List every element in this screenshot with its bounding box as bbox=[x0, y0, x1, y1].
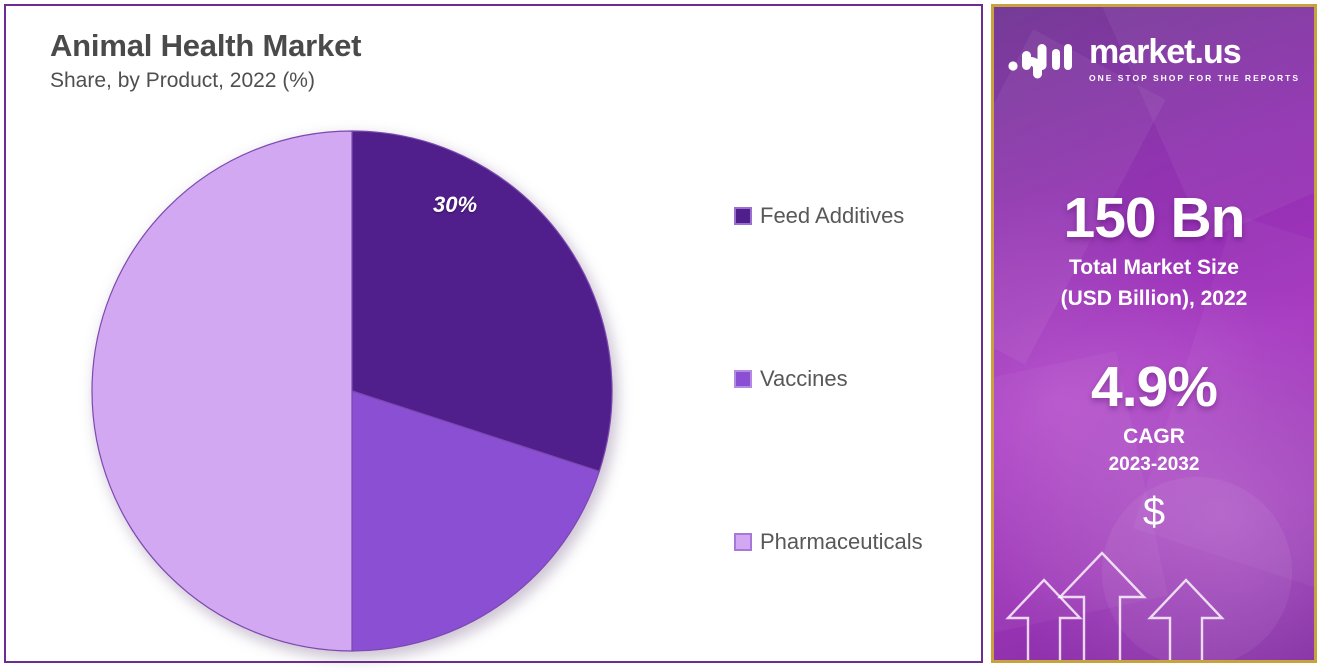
pie-slice[interactable] bbox=[92, 131, 352, 651]
legend-item-vaccines[interactable]: Vaccines bbox=[734, 365, 984, 393]
cagr-stat: 4.9% CAGR 2023-2032 bbox=[994, 358, 1314, 477]
pie-chart: 30% bbox=[90, 129, 614, 653]
stats-panel: market.us ONE STOP SHOP FOR THE REPORTS … bbox=[991, 4, 1317, 663]
legend-item-label: Pharmaceuticals bbox=[760, 529, 923, 555]
chart-panel: Animal Health Market Share, by Product, … bbox=[4, 4, 983, 663]
page-subtitle: Share, by Product, 2022 (%) bbox=[50, 67, 361, 95]
market-size-stat: 150 Bn Total Market Size (USD Billion), … bbox=[994, 189, 1314, 312]
market-size-value: 150 Bn bbox=[994, 189, 1314, 249]
pie-slice-label-feed-additives: 30% bbox=[433, 192, 477, 218]
brand-logo[interactable]: market.us ONE STOP SHOP FOR THE REPORTS bbox=[994, 35, 1314, 83]
growth-arrows-icon bbox=[994, 490, 1314, 660]
cagr-value: 4.9% bbox=[994, 358, 1314, 418]
market-size-caption-line2: (USD Billion), 2022 bbox=[994, 286, 1314, 312]
logo-wordmark: market.us bbox=[1089, 35, 1300, 69]
legend-item-pharmaceuticals[interactable]: Pharmaceuticals bbox=[734, 528, 984, 556]
market-size-caption-line1: Total Market Size bbox=[994, 255, 1314, 281]
logo-text-block: market.us ONE STOP SHOP FOR THE REPORTS bbox=[1089, 35, 1300, 83]
pie-chart-svg bbox=[90, 129, 614, 653]
market-us-logo-icon bbox=[1008, 39, 1076, 79]
cagr-caption-line2: 2023-2032 bbox=[994, 453, 1314, 477]
legend-swatch-icon bbox=[734, 533, 752, 551]
legend-swatch-icon bbox=[734, 207, 752, 225]
page-title: Animal Health Market bbox=[50, 28, 361, 64]
cagr-caption-line1: CAGR bbox=[994, 424, 1314, 450]
pie-slices bbox=[92, 131, 612, 651]
chart-legend: Feed Additives Vaccines Pharmaceuticals bbox=[734, 202, 984, 556]
infographic-root: Animal Health Market Share, by Product, … bbox=[0, 0, 1321, 671]
legend-item-label: Vaccines bbox=[760, 366, 848, 392]
logo-tagline: ONE STOP SHOP FOR THE REPORTS bbox=[1089, 73, 1300, 83]
legend-swatch-icon bbox=[734, 370, 752, 388]
legend-item-feed-additives[interactable]: Feed Additives bbox=[734, 202, 984, 230]
chart-heading-block: Animal Health Market Share, by Product, … bbox=[50, 28, 361, 95]
legend-item-label: Feed Additives bbox=[760, 203, 904, 229]
